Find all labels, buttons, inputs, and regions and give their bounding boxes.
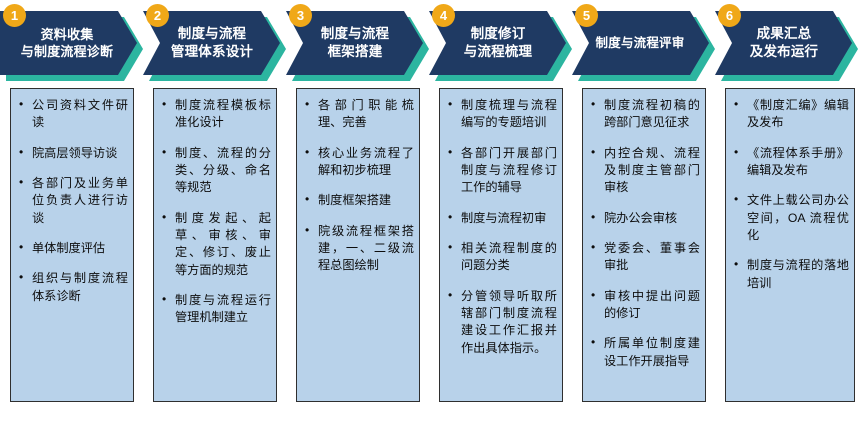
process-diagram: 资料收集与制度流程诊断1公司资料文件研读院高层领导访谈各部门及业务单位负责人进行… xyxy=(0,0,866,424)
stage-number-badge: 5 xyxy=(575,4,598,27)
list-item: 制度与流程初审 xyxy=(444,210,557,227)
stage-6: 成果汇总及发布运行6《制度汇编》编辑及发布《流程体系手册》编辑及发布文件上载公司… xyxy=(715,0,860,424)
stage-1: 资料收集与制度流程诊断1公司资料文件研读院高层领导访谈各部门及业务单位负责人进行… xyxy=(0,0,145,424)
stage-title-line: 制度与流程 xyxy=(321,25,390,43)
list-item: 各部门职能梳理、完善 xyxy=(301,97,414,132)
list-item: 院高层领导访谈 xyxy=(15,145,128,162)
stage-5: 制度与流程评审5制度流程初稿的跨部门意见征求内控合规、流程及制度主管部门审核院办… xyxy=(572,0,717,424)
stage-task-list: 制度流程初稿的跨部门意见征求内控合规、流程及制度主管部门审核院办公会审核党委会、… xyxy=(587,97,700,370)
stage-number-badge: 6 xyxy=(718,4,741,27)
stage-task-list: 《制度汇编》编辑及发布《流程体系手册》编辑及发布文件上载公司办公空间，OA 流程… xyxy=(730,97,849,292)
stage-number-badge: 3 xyxy=(289,4,312,27)
stage-detail-panel-4: 制度梳理与流程编写的专题培训各部门开展部门制度与流程修订工作的辅导制度与流程初审… xyxy=(439,88,563,402)
list-item: 相关流程制度的问题分类 xyxy=(444,240,557,275)
stage-task-list: 制度流程模板标准化设计制度、流程的分类、分级、命名等规范制度发起、起草、审核、审… xyxy=(158,97,271,327)
stage-4: 制度修订与流程梳理4制度梳理与流程编写的专题培训各部门开展部门制度与流程修订工作… xyxy=(429,0,574,424)
list-item: 党委会、董事会审批 xyxy=(587,240,700,275)
list-item: 制度与流程运行管理机制建立 xyxy=(158,292,271,327)
list-item: 《流程体系手册》编辑及发布 xyxy=(730,145,849,180)
stage-detail-panel-5: 制度流程初稿的跨部门意见征求内控合规、流程及制度主管部门审核院办公会审核党委会、… xyxy=(582,88,706,402)
stage-title-line: 与流程梳理 xyxy=(464,43,533,61)
stage-title: 成果汇总及发布运行 xyxy=(732,11,836,75)
list-item: 院办公会审核 xyxy=(587,210,700,227)
list-item: 单体制度评估 xyxy=(15,240,128,257)
list-item: 分管领导听取所辖部门制度流程建设工作汇报并作出具体指示。 xyxy=(444,288,557,357)
stage-title-line: 制度与流程 xyxy=(178,25,247,43)
list-item: 制度流程初稿的跨部门意见征求 xyxy=(587,97,700,132)
stage-number-badge: 4 xyxy=(432,4,455,27)
list-item: 制度与流程的落地培训 xyxy=(730,257,849,292)
list-item: 审核中提出问题的修订 xyxy=(587,288,700,323)
list-item: 文件上载公司办公空间，OA 流程优化 xyxy=(730,192,849,244)
list-item: 制度梳理与流程编写的专题培训 xyxy=(444,97,557,132)
stage-title-line: 框架搭建 xyxy=(328,43,383,61)
stage-detail-panel-6: 《制度汇编》编辑及发布《流程体系手册》编辑及发布文件上载公司办公空间，OA 流程… xyxy=(725,88,855,402)
list-item: 制度发起、起草、审核、审定、修订、废止等方面的规范 xyxy=(158,210,271,279)
list-item: 所属单位制度建设工作开展指导 xyxy=(587,335,700,370)
stage-number-badge: 1 xyxy=(3,4,26,27)
list-item: 内控合规、流程及制度主管部门审核 xyxy=(587,145,700,197)
stage-detail-panel-2: 制度流程模板标准化设计制度、流程的分类、分级、命名等规范制度发起、起草、审核、审… xyxy=(153,88,277,402)
stage-3: 制度与流程框架搭建3各部门职能梳理、完善核心业务流程了解和初步梳理制度框架搭建院… xyxy=(286,0,431,424)
list-item: 制度框架搭建 xyxy=(301,192,414,209)
list-item: 组织与制度流程体系诊断 xyxy=(15,270,128,305)
stage-2: 制度与流程管理体系设计2制度流程模板标准化设计制度、流程的分类、分级、命名等规范… xyxy=(143,0,288,424)
stage-detail-panel-3: 各部门职能梳理、完善核心业务流程了解和初步梳理制度框架搭建院级流程框架搭建，一、… xyxy=(296,88,420,402)
stage-title: 制度与流程管理体系设计 xyxy=(160,11,264,75)
stage-title: 制度修订与流程梳理 xyxy=(446,11,550,75)
stage-title-line: 资料收集 xyxy=(41,26,94,43)
stage-title-line: 制度修订 xyxy=(471,25,526,43)
stage-title: 制度与流程框架搭建 xyxy=(303,11,407,75)
stage-detail-panel-1: 公司资料文件研读院高层领导访谈各部门及业务单位负责人进行访谈单体制度评估组织与制… xyxy=(10,88,134,402)
stage-task-list: 公司资料文件研读院高层领导访谈各部门及业务单位负责人进行访谈单体制度评估组织与制… xyxy=(15,97,128,305)
stage-title-line: 与制度流程诊断 xyxy=(21,43,113,60)
stage-title-line: 管理体系设计 xyxy=(171,43,253,61)
list-item: 制度、流程的分类、分级、命名等规范 xyxy=(158,145,271,197)
stage-title: 制度与流程评审 xyxy=(580,11,700,75)
stage-number-badge: 2 xyxy=(146,4,169,27)
list-item: 院级流程框架搭建，一、二级流程总图绘制 xyxy=(301,223,414,275)
list-item: 各部门及业务单位负责人进行访谈 xyxy=(15,175,128,227)
list-item: 核心业务流程了解和初步梳理 xyxy=(301,145,414,180)
stage-task-list: 制度梳理与流程编写的专题培训各部门开展部门制度与流程修订工作的辅导制度与流程初审… xyxy=(444,97,557,357)
list-item: 各部门开展部门制度与流程修订工作的辅导 xyxy=(444,145,557,197)
stage-title-line: 制度与流程评审 xyxy=(596,35,685,52)
stage-title-line: 及发布运行 xyxy=(750,43,819,61)
list-item: 《制度汇编》编辑及发布 xyxy=(730,97,849,132)
list-item: 制度流程模板标准化设计 xyxy=(158,97,271,132)
list-item: 公司资料文件研读 xyxy=(15,97,128,132)
stage-task-list: 各部门职能梳理、完善核心业务流程了解和初步梳理制度框架搭建院级流程框架搭建，一、… xyxy=(301,97,414,275)
stage-title-line: 成果汇总 xyxy=(757,25,812,43)
